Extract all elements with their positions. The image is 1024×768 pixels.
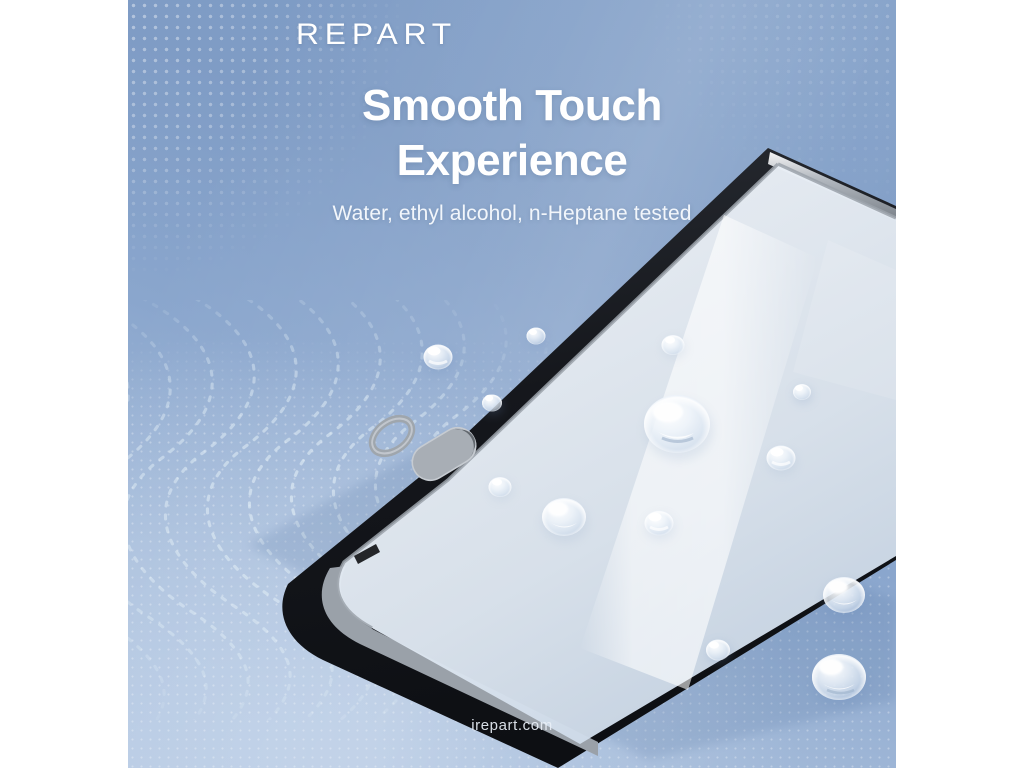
headline-line-2: Experience bbox=[128, 133, 896, 188]
artwork-canvas: REPART Smooth Touch Experience Water, et… bbox=[128, 0, 896, 768]
phone-body bbox=[282, 148, 896, 768]
page-title: Smooth Touch Experience bbox=[128, 78, 896, 188]
subtitle-text: Water, ethyl alcohol, n-Heptane tested bbox=[128, 202, 896, 226]
plane-dot-texture bbox=[128, 330, 896, 768]
screen-protector-glass bbox=[337, 164, 896, 744]
wave-pattern-decoration bbox=[128, 300, 648, 720]
brand-logo: REPART bbox=[296, 18, 457, 52]
water-droplet-icon bbox=[527, 328, 548, 349]
website-url: irepart.com bbox=[128, 717, 896, 734]
protector-bevel bbox=[337, 164, 896, 628]
device-shadow bbox=[248, 430, 896, 760]
water-droplet-icon bbox=[645, 511, 676, 541]
side-button-notch bbox=[354, 544, 380, 564]
water-droplet-icon bbox=[482, 395, 504, 416]
glass-reflection-secondary bbox=[793, 240, 896, 400]
speaker-slot-icon bbox=[406, 421, 483, 487]
water-droplet-icon bbox=[644, 395, 713, 460]
water-droplet-icon bbox=[767, 446, 798, 476]
camera-ring-icon bbox=[367, 411, 417, 460]
glass-light-streak bbox=[580, 215, 818, 690]
water-droplet-icon bbox=[812, 654, 868, 707]
water-droplet-icon bbox=[823, 577, 867, 619]
poster-page: REPART Smooth Touch Experience Water, et… bbox=[0, 0, 1024, 768]
water-droplet-icon bbox=[542, 498, 588, 542]
headline-line-1: Smooth Touch bbox=[362, 81, 662, 130]
water-droplet-icon bbox=[662, 335, 687, 359]
water-droplet-icon bbox=[793, 384, 813, 404]
water-droplet-icon bbox=[489, 477, 514, 501]
water-droplet-icon bbox=[706, 640, 732, 665]
water-droplet-icon bbox=[424, 345, 455, 375]
water-droplets-group bbox=[424, 328, 869, 708]
